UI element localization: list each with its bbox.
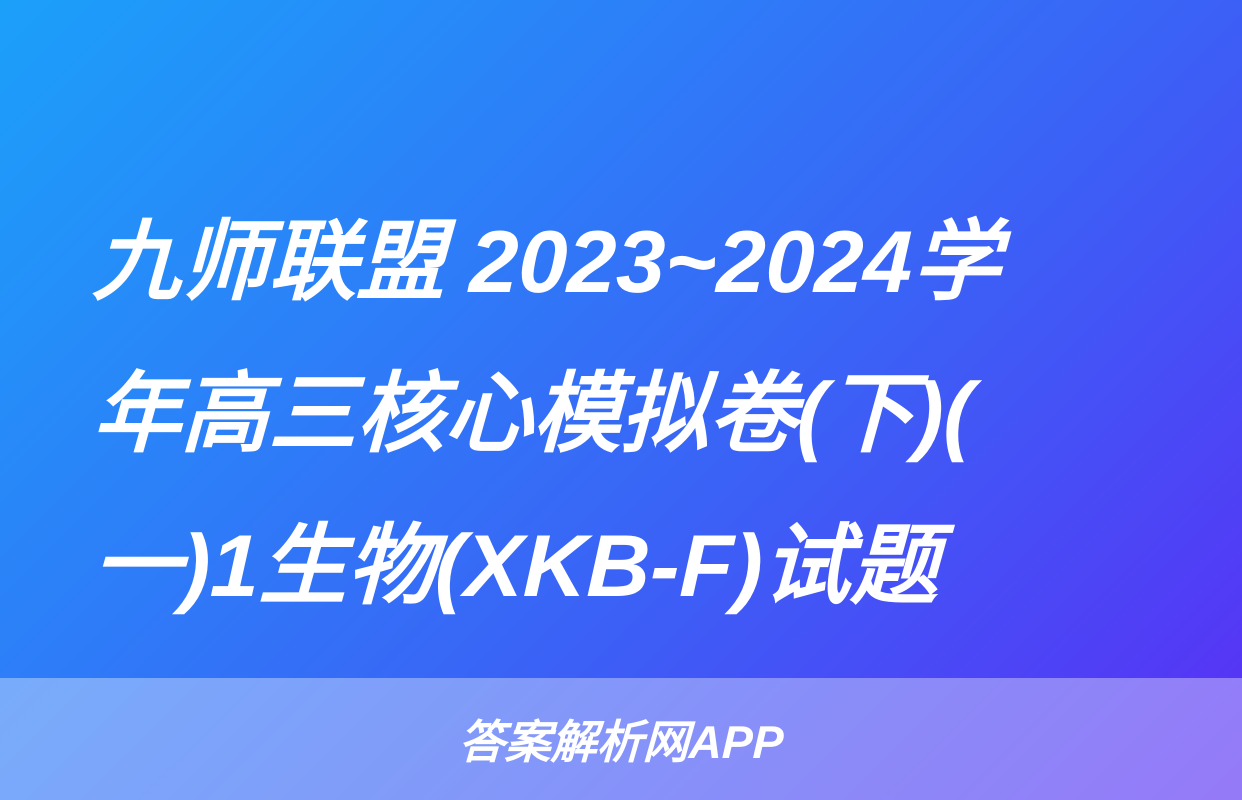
title-line-2: 年高三核心模拟卷(下)( xyxy=(91,338,1158,490)
exam-cover-card: 九师联盟 2023~2024学 年高三核心模拟卷(下)( 一)1生物(XKB-F… xyxy=(0,0,1242,800)
title-line-3: 一)1生物(XKB-F)试题 xyxy=(91,490,1158,642)
watermark-text: 答案解析网APP xyxy=(458,706,785,772)
title-line-1: 九师联盟 2023~2024学 xyxy=(91,186,1158,338)
exam-title-block: 九师联盟 2023~2024学 年高三核心模拟卷(下)( 一)1生物(XKB-F… xyxy=(93,186,1156,642)
watermark-band: 答案解析网APP xyxy=(0,678,1242,800)
